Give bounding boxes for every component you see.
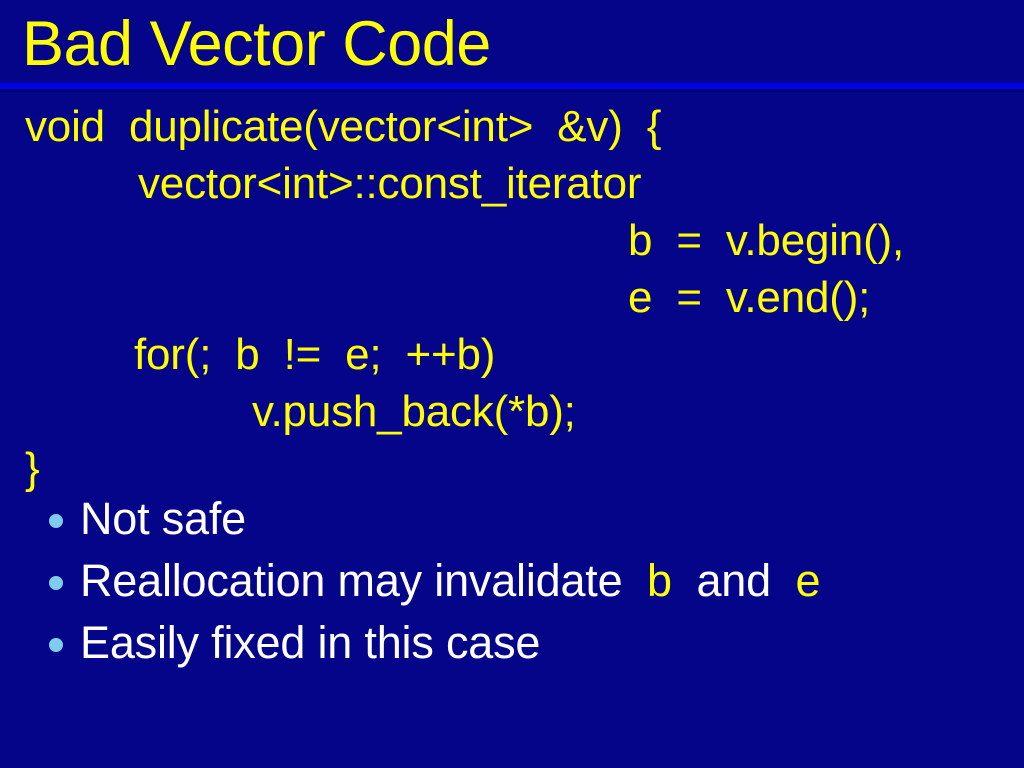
- code-line: vector<int>::const_iterator: [0, 155, 1024, 212]
- round-bullet-icon: [49, 576, 63, 590]
- bullet-list: Not safeReallocation may invalidate b an…: [0, 488, 1024, 674]
- inline-code-variable: b: [647, 555, 672, 606]
- code-line: void duplicate(vector<int> &v) {: [0, 98, 1024, 155]
- list-item-label: Not safe: [80, 493, 246, 544]
- round-bullet-icon: [49, 514, 63, 528]
- inline-code-variable: e: [796, 555, 821, 606]
- code-line: v.push_back(*b);: [0, 383, 1024, 440]
- list-item: Not safe: [0, 488, 1024, 550]
- page-title: Bad Vector Code: [22, 8, 1002, 80]
- code-line: e = v.end();: [0, 269, 1024, 326]
- code-block: void duplicate(vector<int> &v) {vector<i…: [0, 98, 1024, 497]
- list-item-label: Easily fixed in this case: [80, 617, 540, 668]
- list-item: Reallocation may invalidate b and e: [0, 550, 1024, 612]
- title-divider-shadow: [0, 89, 1024, 92]
- code-line: for(; b != e; ++b): [0, 326, 1024, 383]
- round-bullet-icon: [49, 638, 63, 652]
- list-item-label: and: [672, 555, 796, 606]
- code-line: b = v.begin(),: [0, 212, 1024, 269]
- list-item: Easily fixed in this case: [0, 612, 1024, 674]
- list-item-label: Reallocation may invalidate: [80, 555, 647, 606]
- slide-canvas: Bad Vector Code void duplicate(vector<in…: [0, 0, 1024, 768]
